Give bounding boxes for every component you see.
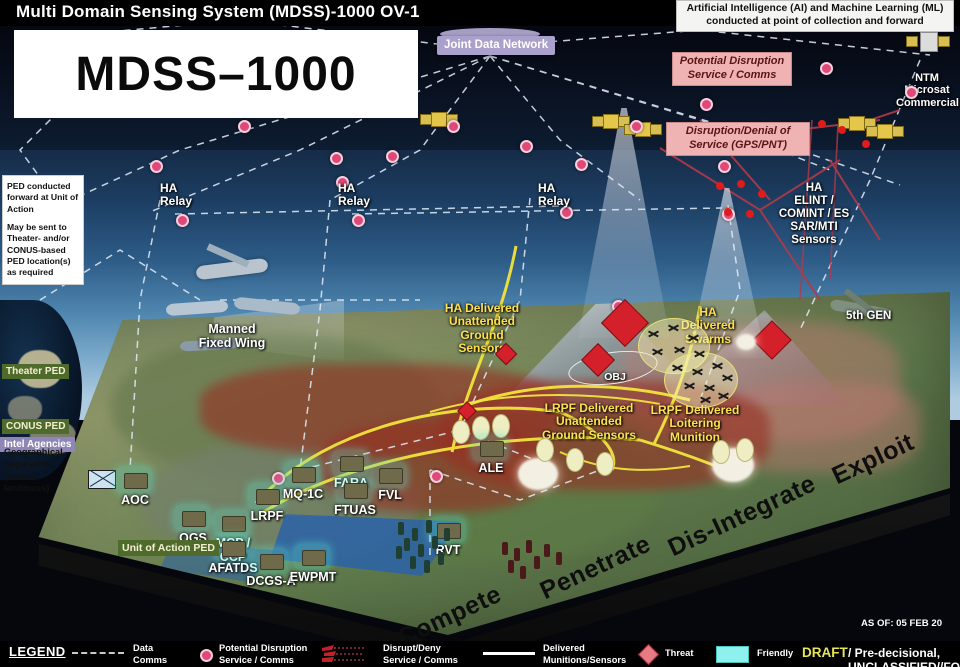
friendly-soldier-icon: [444, 528, 450, 541]
drone-icon: [684, 380, 695, 391]
friendly-soldier-icon: [424, 560, 430, 573]
as-of-date: AS OF: 05 FEB 20: [861, 618, 942, 629]
page-title: Multi Domain Sensing System (MDSS)-1000 …: [16, 2, 420, 22]
joint-data-network-label: Joint Data Network: [437, 36, 555, 55]
threat-soldier-icon: [526, 540, 532, 553]
disruption-denial-callout: Disruption/Denial of Service (GPS/PNT): [666, 122, 810, 156]
threat-soldier-icon: [544, 544, 550, 557]
friendly-soldier-icon: [432, 536, 438, 549]
jam-node: [838, 126, 846, 134]
ped-para-2: May be sent to Theater- and/or CONUS-bas…: [7, 222, 79, 279]
ha-relay-balloon-icon: [120, 186, 150, 212]
ha-relay-label: HA Relay: [538, 182, 570, 209]
legend-item-label: Potential Disruption Service / Comms: [219, 643, 307, 666]
drone-icon: [722, 372, 733, 383]
unit-label: RVT: [419, 543, 477, 557]
jam-node: [862, 140, 870, 148]
explosion-effect: [736, 334, 756, 350]
explosion-effect: [518, 458, 558, 490]
ha-elint-label: HA ELINT / COMINT / ES SAR/MTI Sensors: [764, 182, 864, 246]
friendly-soldier-icon: [398, 522, 404, 535]
drone-icon: [688, 332, 699, 343]
legend-solid-line-icon: [483, 652, 535, 655]
threat-soldier-icon: [514, 548, 520, 561]
system-name-box: MDSS–1000: [14, 30, 418, 118]
unit-symbol-icon: [182, 511, 206, 527]
threat-soldier-icon: [534, 556, 540, 569]
unit-symbol-icon: [124, 473, 148, 489]
jam-node: [716, 182, 724, 190]
unit-of-action-ped-chip: Unit of Action PED: [118, 540, 219, 556]
potential-disruption-callout: Potential Disruption Service / Comms: [672, 52, 792, 86]
unit-symbol-icon: [480, 441, 504, 457]
comms-node: [430, 470, 443, 483]
lrpf-ugs-label: LRPF Delivered Unattended Ground Sensors: [526, 402, 652, 442]
draft-marking: DRAFT: [802, 645, 848, 660]
unit-label: EWPMT: [284, 570, 342, 584]
comms-node: [630, 120, 643, 133]
drone-icon: [668, 322, 679, 333]
ai-ml-line1: Artificial Intelligence (AI) and Machine…: [687, 3, 944, 16]
drone-icon: [652, 346, 663, 357]
friendly-soldier-icon: [426, 520, 432, 533]
legend-item-label: Friendly: [757, 648, 793, 660]
legend-pink-dot-icon: [200, 649, 213, 662]
friendly-unit[interactable]: ALE: [462, 433, 520, 479]
legend-bar: LEGEND Data Comms Potential Disruption S…: [0, 641, 960, 667]
legend-dashed-line-icon: [72, 652, 124, 654]
unit-label: FTUAS: [326, 503, 384, 517]
friendly-unit[interactable]: FTUAS: [326, 475, 384, 521]
friendly-soldier-icon: [412, 528, 418, 541]
drone-icon: [700, 394, 711, 405]
ntm-satellite-icon: [906, 26, 950, 56]
ped-callout-box: PED conducted forward at Unit of Action …: [2, 175, 84, 285]
threat-soldier-icon: [556, 552, 562, 565]
geographical-separation-note: Geographical Separation (ocean / landmas…: [4, 447, 70, 495]
conus-ped-chip: CONUS PED: [2, 419, 69, 434]
system-name-text: MDSS–1000: [75, 47, 356, 102]
comms-node: [905, 86, 918, 99]
legend-item-label: Data Comms: [133, 643, 167, 666]
ha-relay-balloon-icon: [298, 186, 328, 212]
comms-node: [386, 150, 399, 163]
lrpf-loitering-label: LRPF Delivered Loitering Munition: [640, 404, 750, 444]
loitering-munition-icon: [596, 452, 614, 476]
unit-symbol-icon: [292, 467, 316, 483]
drone-icon: [704, 382, 715, 393]
loitering-munition-icon: [566, 448, 584, 472]
comms-node: [700, 98, 713, 111]
legend-item-label: Disrupt/Deny Service / Comms: [383, 643, 458, 666]
comms-node: [150, 160, 163, 173]
drone-icon: [692, 366, 703, 377]
jam-node: [737, 180, 745, 188]
fifth-gen-label: 5th GEN: [846, 310, 891, 323]
comms-node: [330, 152, 343, 165]
ha-relay-balloon-icon: [500, 184, 530, 210]
comms-node: [820, 62, 833, 75]
legend-threat-diamond-icon: [638, 644, 659, 665]
classification-marking: / Pre-decisional, UNCLASSIFIED//FOUO: [848, 646, 960, 667]
threat-soldier-icon: [508, 560, 514, 573]
comms-node: [520, 140, 533, 153]
unit-label: ALE: [462, 461, 520, 475]
loitering-munition-icon: [536, 438, 554, 462]
legend-title: LEGEND: [9, 644, 66, 659]
manned-fixed-wing-label: Manned Fixed Wing: [182, 322, 282, 350]
drone-icon: [712, 360, 723, 371]
threat-soldier-icon: [502, 542, 508, 555]
unit-label: AOC: [106, 493, 164, 507]
friendly-soldier-icon: [396, 546, 402, 559]
comms-node: [352, 214, 365, 227]
legend-item-label: Delivered Munitions/Sensors: [543, 643, 626, 666]
unit-symbol-icon: [344, 483, 368, 499]
ha-delivered-ugs-label: HA Delivered Unattended Ground Sensors: [432, 302, 532, 356]
unit-symbol-icon: [302, 550, 326, 566]
drone-icon: [672, 362, 683, 373]
friendly-soldier-icon: [404, 538, 410, 551]
ai-ml-line2: conducted at point of collection and for…: [706, 16, 923, 29]
comms-node: [718, 160, 731, 173]
ha-relay-label: HA Relay: [338, 182, 370, 209]
friendly-soldier-icon: [418, 544, 424, 557]
loitering-munition-icon: [736, 438, 754, 462]
friendly-unit[interactable]: EWPMT: [284, 542, 342, 588]
drone-icon: [694, 348, 705, 359]
comms-node: [176, 214, 189, 227]
friendly-unit[interactable]: AOC: [106, 465, 164, 511]
jam-node: [818, 120, 826, 128]
legend-friendly-box-icon: [716, 646, 749, 663]
ov1-diagram: Multi Domain Sensing System (MDSS)-1000 …: [0, 0, 960, 667]
ha-relay-label: HA Relay: [160, 182, 192, 209]
friendly-soldier-icon: [438, 552, 444, 565]
comms-node: [575, 158, 588, 171]
unit-label: LRPF: [238, 509, 296, 523]
drone-icon: [718, 390, 729, 401]
ped-para-1: PED conducted forward at Unit of Action: [7, 181, 79, 215]
legend-item-label: Threat: [665, 648, 693, 660]
loitering-munition-icon: [712, 440, 730, 464]
comms-node: [238, 120, 251, 133]
satellite-icon: [866, 120, 904, 142]
drone-icon: [674, 344, 685, 355]
theater-ped-chip: Theater PED: [2, 364, 69, 379]
drone-icon: [648, 328, 659, 339]
threat-soldier-icon: [520, 566, 526, 579]
legend-jam-icon: [322, 645, 368, 663]
unit-symbol-icon: [260, 554, 284, 570]
comms-node: [447, 120, 460, 133]
friendly-soldier-icon: [410, 556, 416, 569]
